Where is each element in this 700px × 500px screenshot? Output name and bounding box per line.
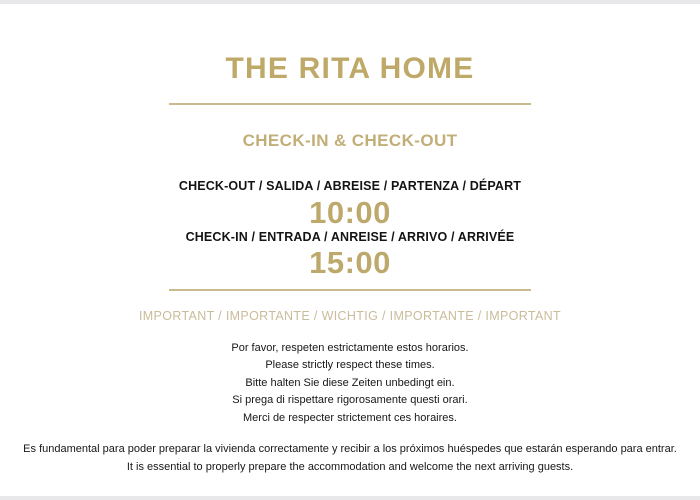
- checkin-label: CHECK-IN / ENTRADA / ANREISE / ARRIVO / …: [186, 231, 515, 244]
- page-edge-strip-bottom: [0, 496, 700, 500]
- notice-sheet: THE RITA HOME CHECK-IN & CHECK-OUT CHECK…: [0, 0, 700, 500]
- important-heading: IMPORTANT / IMPORTANTE / WICHTIG / IMPOR…: [139, 310, 561, 323]
- schedule-block: CHECK-OUT / SALIDA / ABREISE / PARTENZA …: [179, 180, 521, 281]
- notice-line: Please strictly respect these times.: [265, 358, 434, 373]
- closing-lines: Es fundamental para poder preparar la vi…: [20, 442, 680, 474]
- checkout-label: CHECK-OUT / SALIDA / ABREISE / PARTENZA …: [179, 180, 521, 193]
- page-subtitle: CHECK-IN & CHECK-OUT: [243, 132, 458, 149]
- notice-line: Si prega di rispettare rigorosamente que…: [232, 393, 467, 408]
- title-divider: [169, 103, 531, 105]
- notice-line: Bitte halten Sie diese Zeiten unbedingt …: [245, 376, 454, 391]
- notice-lines: Por favor, respeten estrictamente estos …: [231, 341, 468, 426]
- schedule-divider: [169, 289, 531, 291]
- checkout-time: 10:00: [309, 197, 391, 228]
- notice-line: Merci de respecter strictement ces horai…: [243, 411, 457, 426]
- checkin-time: 15:00: [309, 247, 391, 278]
- closing-line: It is essential to properly prepare the …: [127, 460, 573, 475]
- closing-line: Es fundamental para poder preparar la vi…: [23, 442, 677, 457]
- notice-line: Por favor, respeten estrictamente estos …: [231, 341, 468, 356]
- page-title: THE RITA HOME: [226, 54, 475, 84]
